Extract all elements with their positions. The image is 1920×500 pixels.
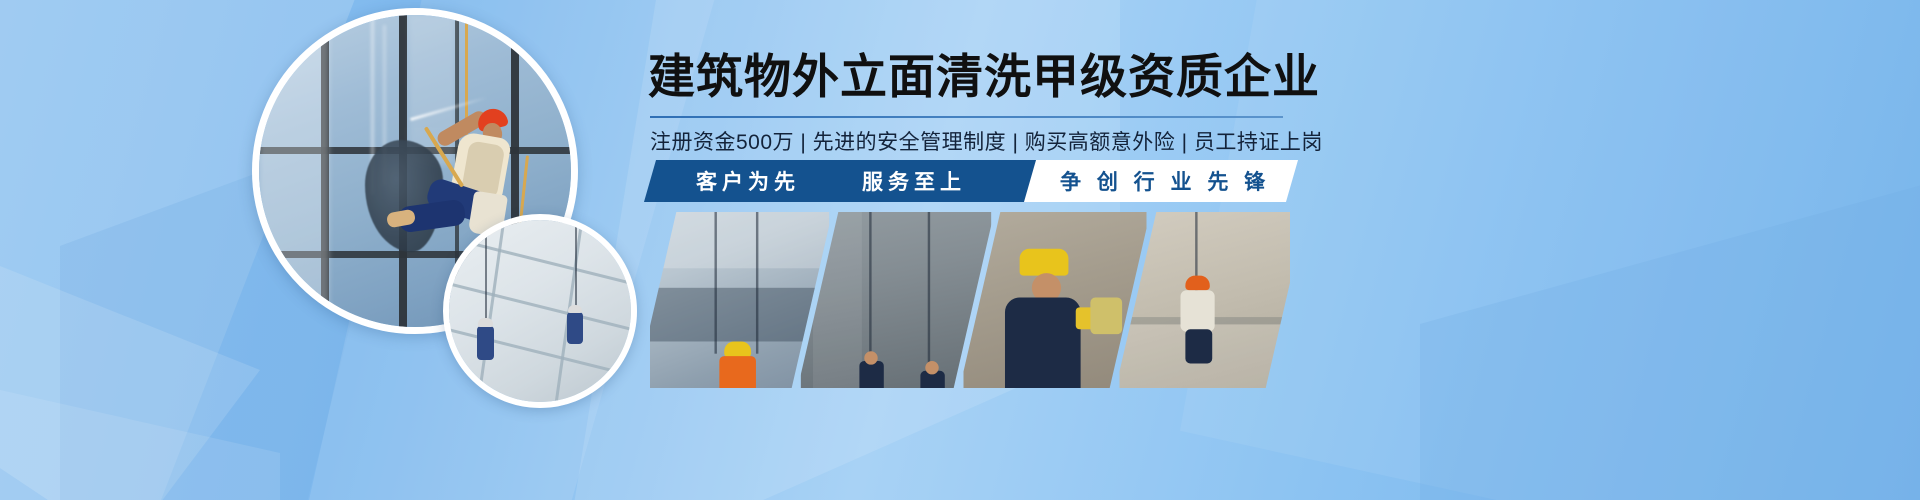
photo-circle-small	[443, 214, 637, 408]
hard-hat-icon	[478, 318, 493, 327]
background-facet-3	[0, 250, 260, 500]
tagline-bar: 客户为先 服务至上 争 创 行 业 先 锋	[650, 160, 1290, 202]
page-title: 建筑物外立面清洗甲级资质企业	[648, 52, 1320, 101]
promo-banner: 建筑物外立面清洗甲级资质企业 注册资金500万 | 先进的安全管理制度 | 购买…	[0, 0, 1920, 500]
safety-rope	[756, 212, 758, 354]
subtitle-text: 注册资金500万 | 先进的安全管理制度 | 购买高额意外险 | 员工持证上岗	[650, 126, 1323, 156]
hard-hat-icon	[1020, 249, 1069, 276]
photo-strip	[650, 212, 1290, 388]
worker-legs	[1185, 329, 1212, 363]
worker-head	[925, 361, 938, 374]
tagline-item-3: 争 创 行 业 先 锋	[1060, 160, 1270, 202]
photo-panel-1-image	[650, 212, 829, 388]
hard-hat-icon	[724, 341, 751, 357]
hard-hat-icon	[1185, 276, 1209, 291]
background-facet-7	[1420, 180, 1920, 500]
photo-panel-3-image	[964, 212, 1147, 388]
building-facade	[449, 220, 631, 402]
worker-head	[864, 351, 877, 364]
tagline-item-1: 客户为先	[696, 160, 800, 202]
plaster-trowel-icon	[1090, 298, 1122, 335]
worker-torso	[1181, 290, 1215, 331]
photo-panel-2-image	[801, 212, 991, 388]
wall-band	[650, 212, 829, 268]
safety-rope	[869, 212, 871, 366]
tagline-item-2: 服务至上	[862, 160, 966, 202]
safety-rope	[575, 220, 577, 316]
window-band	[650, 288, 829, 342]
worker-torso	[1005, 298, 1081, 388]
worker-figure	[859, 361, 883, 388]
background-facet-8	[0, 390, 280, 500]
title-divider	[650, 116, 1283, 118]
worker-vest	[719, 356, 756, 388]
safety-rope	[928, 212, 930, 376]
glass-sheen	[259, 15, 329, 327]
hard-hat-icon	[568, 305, 582, 313]
worker-figure	[477, 326, 494, 360]
worker-figure	[567, 312, 583, 344]
photo-panel-4-image	[1120, 212, 1291, 388]
facade-workers-photo	[449, 220, 631, 402]
safety-rope	[485, 220, 487, 330]
safety-rope	[714, 212, 716, 354]
